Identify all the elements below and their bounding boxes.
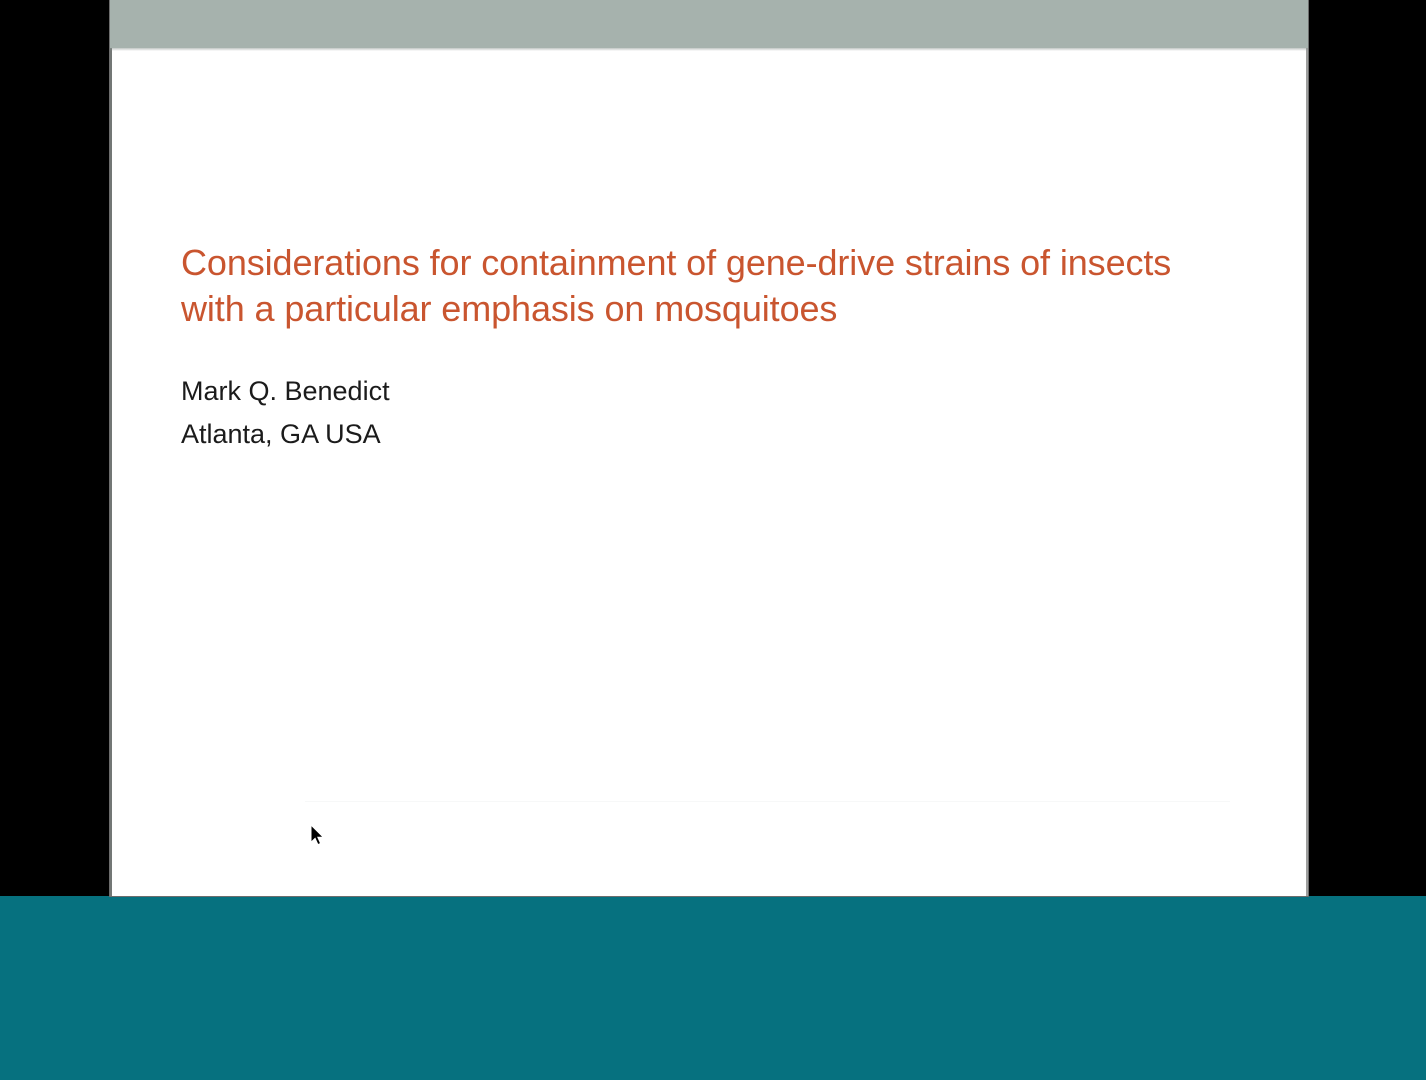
slide-right-edge <box>1306 0 1308 896</box>
bottom-teal-band <box>0 896 1426 1080</box>
author-name: Mark Q. Benedict <box>181 370 390 413</box>
slide-header-bar-shadow <box>110 48 1308 51</box>
slide-author-block: Mark Q. Benedict Atlanta, GA USA <box>181 370 390 456</box>
author-location: Atlanta, GA USA <box>181 413 390 456</box>
slide-title-block: Considerations for containment of gene-d… <box>181 240 1221 332</box>
pointer-arrow-icon <box>310 824 326 848</box>
slide-title: Considerations for containment of gene-d… <box>181 240 1221 332</box>
slide-header-bar <box>110 0 1308 48</box>
slide-footer-rule <box>305 801 1230 802</box>
presentation-viewer: Considerations for containment of gene-d… <box>0 0 1426 1080</box>
slide-left-edge <box>110 0 112 896</box>
presentation-slide[interactable]: Considerations for containment of gene-d… <box>110 0 1308 896</box>
